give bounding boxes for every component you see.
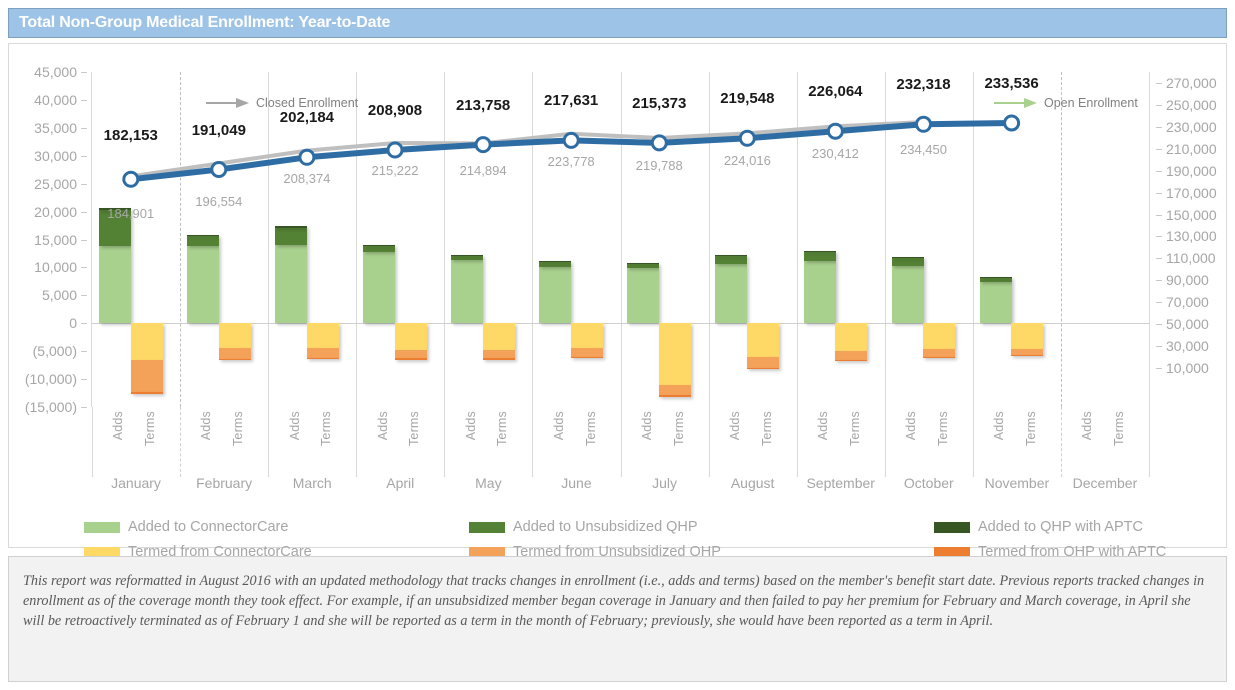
open-enrollment-label: Open Enrollment — [1044, 96, 1138, 110]
data-label-report-date: 226,064 — [808, 83, 862, 100]
x-axis-label-terms: Terms — [672, 411, 686, 446]
y-axis-right-tick-label: 130,000 — [1166, 228, 1217, 244]
y-axis-right-tick-label: 210,000 — [1166, 141, 1217, 157]
x-axis-label-terms: Terms — [143, 411, 157, 446]
y-axis-left-tick — [81, 295, 87, 296]
data-label-report-date: 232,318 — [896, 76, 950, 93]
x-axis: AddsTermsJanuaryAddsTermsFebruaryAddsTer… — [92, 407, 1149, 499]
y-axis-left-tick-label: 45,000 — [34, 64, 77, 80]
y-axis-left-tick — [81, 184, 87, 185]
legend-swatch-aptc-add — [934, 522, 970, 533]
x-axis-label-adds: Adds — [199, 411, 213, 440]
y-axis-right-tick-label: 150,000 — [1166, 207, 1217, 223]
x-axis-separator — [356, 407, 357, 477]
x-axis-label-adds: Adds — [728, 411, 742, 440]
data-label-report-date: 217,631 — [544, 92, 598, 109]
x-axis-label-adds: Adds — [904, 411, 918, 440]
y-axis-right-tick — [1156, 171, 1162, 172]
y-axis-left-tick — [81, 407, 87, 408]
legend-swatch-cc-add — [84, 522, 120, 533]
y-axis-left-tick — [81, 100, 87, 101]
x-axis-month-label: October — [904, 475, 954, 491]
legend-item-un-add[interactable]: Added to Unsubsidized QHP — [469, 519, 698, 535]
data-label-report-date: 208,908 — [368, 102, 422, 119]
legend-item-cc-add[interactable]: Added to ConnectorCare — [84, 519, 288, 535]
report-page: Total Non-Group Medical Enrollment: Year… — [0, 0, 1235, 690]
x-axis-separator — [92, 407, 93, 477]
arrow-right-gray-icon — [206, 96, 250, 110]
y-axis-right-tick — [1156, 127, 1162, 128]
x-axis-label-terms: Terms — [848, 411, 862, 446]
y-axis-left-tick-label: 0 — [69, 315, 77, 331]
x-axis-label-terms: Terms — [760, 411, 774, 446]
legend-label: Added to ConnectorCare — [128, 519, 288, 535]
x-axis-separator — [1149, 407, 1150, 477]
x-axis-month-label: May — [475, 475, 501, 491]
x-axis-label-terms: Terms — [1112, 411, 1126, 446]
y-axis-left-tick — [81, 156, 87, 157]
y-axis-right-tick — [1156, 215, 1162, 216]
footnote-text: This report was reformatted in August 20… — [23, 571, 1212, 631]
x-axis-separator — [1061, 407, 1062, 477]
y-axis-left-tick — [81, 323, 87, 324]
closed-enrollment-label: Closed Enrollment — [256, 96, 358, 110]
y-axis-right-tick-label: 90,000 — [1166, 272, 1209, 288]
data-label-report-date: 233,536 — [984, 75, 1038, 92]
x-axis-month-label: December — [1073, 475, 1138, 491]
x-axis-label-adds: Adds — [464, 411, 478, 440]
x-axis-month-label: June — [561, 475, 591, 491]
x-axis-month-label: November — [985, 475, 1050, 491]
y-axis-left-tick-label: 15,000 — [34, 232, 77, 248]
x-axis-label-terms: Terms — [936, 411, 950, 446]
y-axis-right-tick-label: 170,000 — [1166, 185, 1217, 201]
x-axis-separator — [797, 407, 798, 477]
data-label-report-date: 202,184 — [280, 109, 334, 126]
legend-swatch-un-add — [469, 522, 505, 533]
y-axis-left-tick-label: (5,000) — [33, 343, 77, 359]
data-label-report-date: 215,373 — [632, 95, 686, 112]
x-axis-separator — [621, 407, 622, 477]
y-axis-left-tick — [81, 379, 87, 380]
x-axis-label-adds: Adds — [552, 411, 566, 440]
y-axis-left-tick-label: 25,000 — [34, 176, 77, 192]
line-report-date — [131, 123, 1012, 179]
data-label-initial-report-date: 208,374 — [283, 171, 330, 186]
y-axis-right-tick — [1156, 236, 1162, 237]
x-axis-label-adds: Adds — [816, 411, 830, 440]
y-axis-right: 270,000250,000230,000210,000190,000170,0… — [1154, 72, 1226, 407]
line-series-layer — [92, 72, 1149, 407]
y-axis-left-tick — [81, 240, 87, 241]
line-marker — [388, 143, 402, 157]
page-title: Total Non-Group Medical Enrollment: Year… — [9, 14, 390, 32]
open-enrollment-annotation: Open Enrollment — [994, 96, 1138, 110]
x-axis-separator — [180, 407, 181, 477]
x-axis-separator — [532, 407, 533, 477]
x-axis-month-label: February — [196, 475, 252, 491]
x-axis-label-terms: Terms — [231, 411, 245, 446]
data-label-initial-report-date: 234,450 — [900, 142, 947, 157]
y-axis-right-tick — [1156, 105, 1162, 106]
x-axis-label-terms: Terms — [1024, 411, 1038, 446]
line-marker — [917, 117, 931, 131]
y-axis-right-tick-label: 30,000 — [1166, 338, 1209, 354]
y-axis-left-tick-label: 40,000 — [34, 92, 77, 108]
y-axis-right-tick — [1156, 83, 1162, 84]
x-axis-label-terms: Terms — [407, 411, 421, 446]
y-axis-right-tick — [1156, 346, 1162, 347]
data-label-report-date: 182,153 — [104, 127, 158, 144]
data-label-initial-report-date: 215,222 — [372, 163, 419, 178]
data-label-initial-report-date: 184,901 — [107, 206, 154, 221]
y-axis-right-tick — [1156, 258, 1162, 259]
y-axis-right-tick — [1156, 324, 1162, 325]
y-axis-left-tick — [81, 267, 87, 268]
y-axis-right-tick — [1156, 302, 1162, 303]
x-axis-separator — [268, 407, 269, 477]
y-axis-right-tick-label: 50,000 — [1166, 316, 1209, 332]
y-axis-left-tick-label: 30,000 — [34, 148, 77, 164]
data-label-initial-report-date: 230,412 — [812, 146, 859, 161]
closed-enrollment-annotation: Closed Enrollment — [206, 96, 358, 110]
line-marker — [828, 124, 842, 138]
line-marker — [740, 131, 754, 145]
y-axis-left-tick — [81, 351, 87, 352]
report-title-bar: Total Non-Group Medical Enrollment: Year… — [8, 8, 1227, 38]
data-label-report-date: 219,548 — [720, 90, 774, 107]
y-axis-right-tick-label: 10,000 — [1166, 360, 1209, 376]
axis-spine-right — [1149, 72, 1150, 407]
chart-panel: 45,00040,00035,00030,00025,00020,00015,0… — [8, 43, 1227, 548]
legend-item-aptc-add[interactable]: Added to QHP with APTC — [934, 519, 1143, 535]
line-marker — [564, 133, 578, 147]
y-axis-left-tick — [81, 212, 87, 213]
y-axis-left-tick-label: 20,000 — [34, 204, 77, 220]
y-axis-right-tick-label: 270,000 — [1166, 75, 1217, 91]
y-axis-right-tick-label: 70,000 — [1166, 294, 1209, 310]
x-axis-label-adds: Adds — [376, 411, 390, 440]
y-axis-right-tick — [1156, 149, 1162, 150]
legend-label: Added to QHP with APTC — [978, 519, 1143, 535]
x-axis-label-adds: Adds — [1080, 411, 1094, 440]
y-axis-left-tick-label: 5,000 — [42, 287, 77, 303]
line-marker — [124, 172, 138, 186]
y-axis-right-tick-label: 230,000 — [1166, 119, 1217, 135]
y-axis-right-tick-label: 250,000 — [1166, 97, 1217, 113]
line-marker — [476, 138, 490, 152]
x-axis-month-label: March — [293, 475, 332, 491]
line-marker — [212, 163, 226, 177]
footnote-box: This report was reformatted in August 20… — [8, 556, 1227, 682]
x-axis-month-label: September — [806, 475, 874, 491]
data-label-initial-report-date: 223,778 — [548, 154, 595, 169]
arrow-right-green-icon — [994, 96, 1038, 110]
line-marker — [1005, 116, 1019, 130]
line-marker — [300, 150, 314, 164]
x-axis-label-terms: Terms — [319, 411, 333, 446]
x-axis-month-label: January — [111, 475, 161, 491]
legend-label: Added to Unsubsidized QHP — [513, 519, 698, 535]
y-axis-left-tick-label: (10,000) — [25, 371, 77, 387]
x-axis-separator — [444, 407, 445, 477]
x-axis-separator — [709, 407, 710, 477]
x-axis-label-terms: Terms — [584, 411, 598, 446]
x-axis-separator — [885, 407, 886, 477]
data-label-initial-report-date: 214,894 — [460, 163, 507, 178]
x-axis-month-label: August — [731, 475, 775, 491]
y-axis-left-tick — [81, 128, 87, 129]
y-axis-left-tick-label: 10,000 — [34, 259, 77, 275]
y-axis-right-tick — [1156, 368, 1162, 369]
data-label-initial-report-date: 219,788 — [636, 158, 683, 173]
plot-area: 182,153191,049202,184208,908213,758217,6… — [92, 72, 1149, 407]
y-axis-right-tick-label: 110,000 — [1166, 250, 1216, 266]
x-axis-label-adds: Adds — [640, 411, 654, 440]
x-axis-label-adds: Adds — [288, 411, 302, 440]
y-axis-left-tick — [81, 72, 87, 73]
x-axis-label-terms: Terms — [495, 411, 509, 446]
y-axis-left-tick-label: 35,000 — [34, 120, 77, 136]
x-axis-month-label: April — [386, 475, 414, 491]
data-label-initial-report-date: 196,554 — [195, 194, 242, 209]
x-axis-month-label: July — [652, 475, 677, 491]
data-label-initial-report-date: 224,016 — [724, 153, 771, 168]
y-axis-right-tick-label: 190,000 — [1166, 163, 1217, 179]
y-axis-right-tick — [1156, 280, 1162, 281]
y-axis-right-tick — [1156, 193, 1162, 194]
y-axis-left: 45,00040,00035,00030,00025,00020,00015,0… — [9, 72, 87, 407]
x-axis-separator — [973, 407, 974, 477]
x-axis-label-adds: Adds — [992, 411, 1006, 440]
line-marker — [652, 136, 666, 150]
data-label-report-date: 191,049 — [192, 122, 246, 139]
data-label-report-date: 213,758 — [456, 97, 510, 114]
y-axis-left-tick-label: (15,000) — [25, 399, 77, 415]
x-axis-label-adds: Adds — [111, 411, 125, 440]
